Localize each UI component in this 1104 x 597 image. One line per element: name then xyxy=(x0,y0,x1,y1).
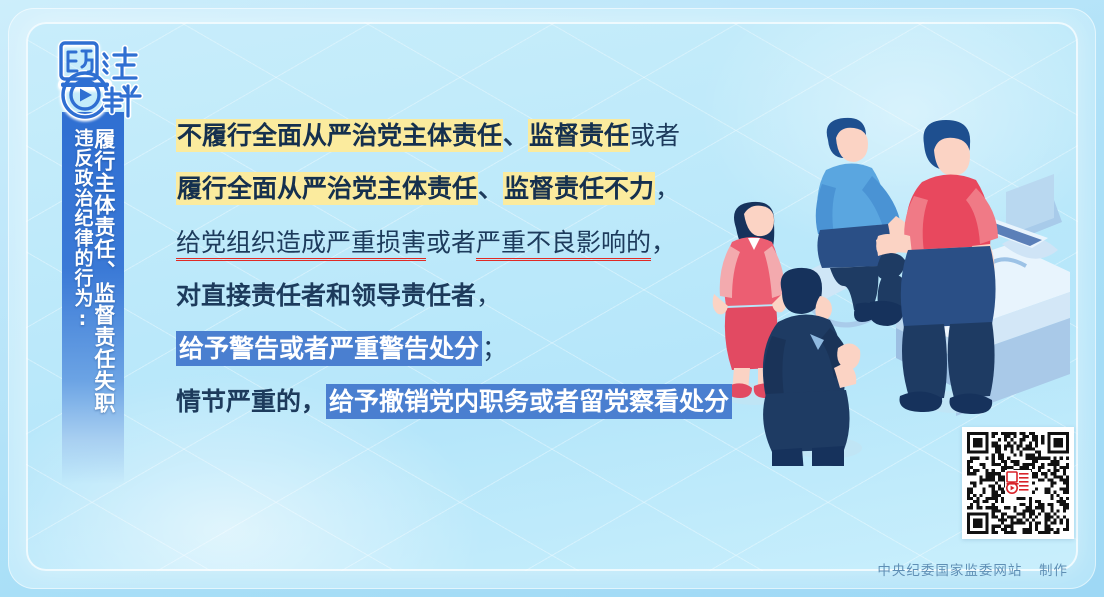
regulation-line: 对直接责任者和领导责任者， xyxy=(176,278,796,314)
regulation-text-block: 不履行全面从严治党主体责任、监督责任或者履行全面从严治党主体责任、监督责任不力，… xyxy=(176,118,796,421)
banner-column-left: 违反政治纪律的行为: xyxy=(72,128,91,478)
text-segment-plain: 或者 xyxy=(426,228,476,257)
text-segment-plain: ， xyxy=(655,174,680,203)
regulation-line: 履行全面从严治党主体责任、监督责任不力， xyxy=(176,171,796,207)
text-segment-plain: 或者 xyxy=(630,121,680,150)
qr-center-logo xyxy=(1005,470,1031,496)
text-segment-plain: ； xyxy=(482,334,507,363)
footer-credit: 中央纪委国家监委网站 制作 xyxy=(877,559,1068,579)
text-segment-underline-red: 严重不良影响的 xyxy=(476,228,651,261)
regulation-line: 给党组织造成严重损害或者严重不良影响的， xyxy=(176,225,796,261)
text-segment-plain-bold: 、 xyxy=(503,121,528,150)
poster-root: 履行主体责任、监督责任失职 违反政治纪律的行为: 不履行全面从严治党主体责任、监… xyxy=(0,0,1104,597)
text-segment-highlight-blue: 给予警告或者严重警告处分 xyxy=(176,331,482,366)
regulation-line: 不履行全面从严治党主体责任、监督责任或者 xyxy=(176,118,796,154)
brand-logo xyxy=(52,38,162,130)
logo-svg xyxy=(52,38,162,130)
qr-center-logo-svg xyxy=(1006,471,1030,495)
text-segment-plain-bold: 对直接责任者和领导责任者 xyxy=(176,281,476,310)
qr-code[interactable] xyxy=(962,427,1074,539)
regulation-line: 情节严重的，给予撤销党内职务或者留党察看处分 xyxy=(176,384,796,420)
banner-column-right: 履行主体责任、监督责任失职 xyxy=(92,128,113,478)
text-segment-plain: ， xyxy=(651,228,676,257)
footer-site-name: 中央纪委国家监委网站 xyxy=(877,563,1022,579)
text-segment-plain-bold: 情节严重的， xyxy=(176,387,326,416)
play-circle-icon xyxy=(80,89,92,102)
text-segment-plain: ， xyxy=(476,281,501,310)
regulation-line: 给予警告或者严重警告处分； xyxy=(176,331,796,367)
text-segment-highlight-yellow: 监督责任不力 xyxy=(503,172,655,205)
banner-columns: 履行主体责任、监督责任失职 违反政治纪律的行为: xyxy=(62,128,124,478)
logo-char-fa xyxy=(104,48,136,78)
text-segment-highlight-yellow: 监督责任 xyxy=(528,119,630,152)
text-segment-highlight-yellow: 不履行全面从严治党主体责任 xyxy=(176,119,503,152)
footer-credit-label: 制作 xyxy=(1039,563,1068,579)
text-segment-underline-red: 给党组织造成严重损害 xyxy=(176,228,426,261)
text-segment-highlight-blue: 给予撤销党内职务或者留党察看处分 xyxy=(326,384,732,419)
text-segment-plain-bold: 、 xyxy=(478,174,503,203)
qr-code-canvas xyxy=(967,432,1069,534)
logo-char-ke xyxy=(104,86,140,116)
text-segment-highlight-yellow: 履行全面从严治党主体责任 xyxy=(176,172,478,205)
vertical-category-banner: 履行主体责任、监督责任失职 违反政治纪律的行为: xyxy=(62,112,124,484)
logo-bar xyxy=(61,83,109,88)
